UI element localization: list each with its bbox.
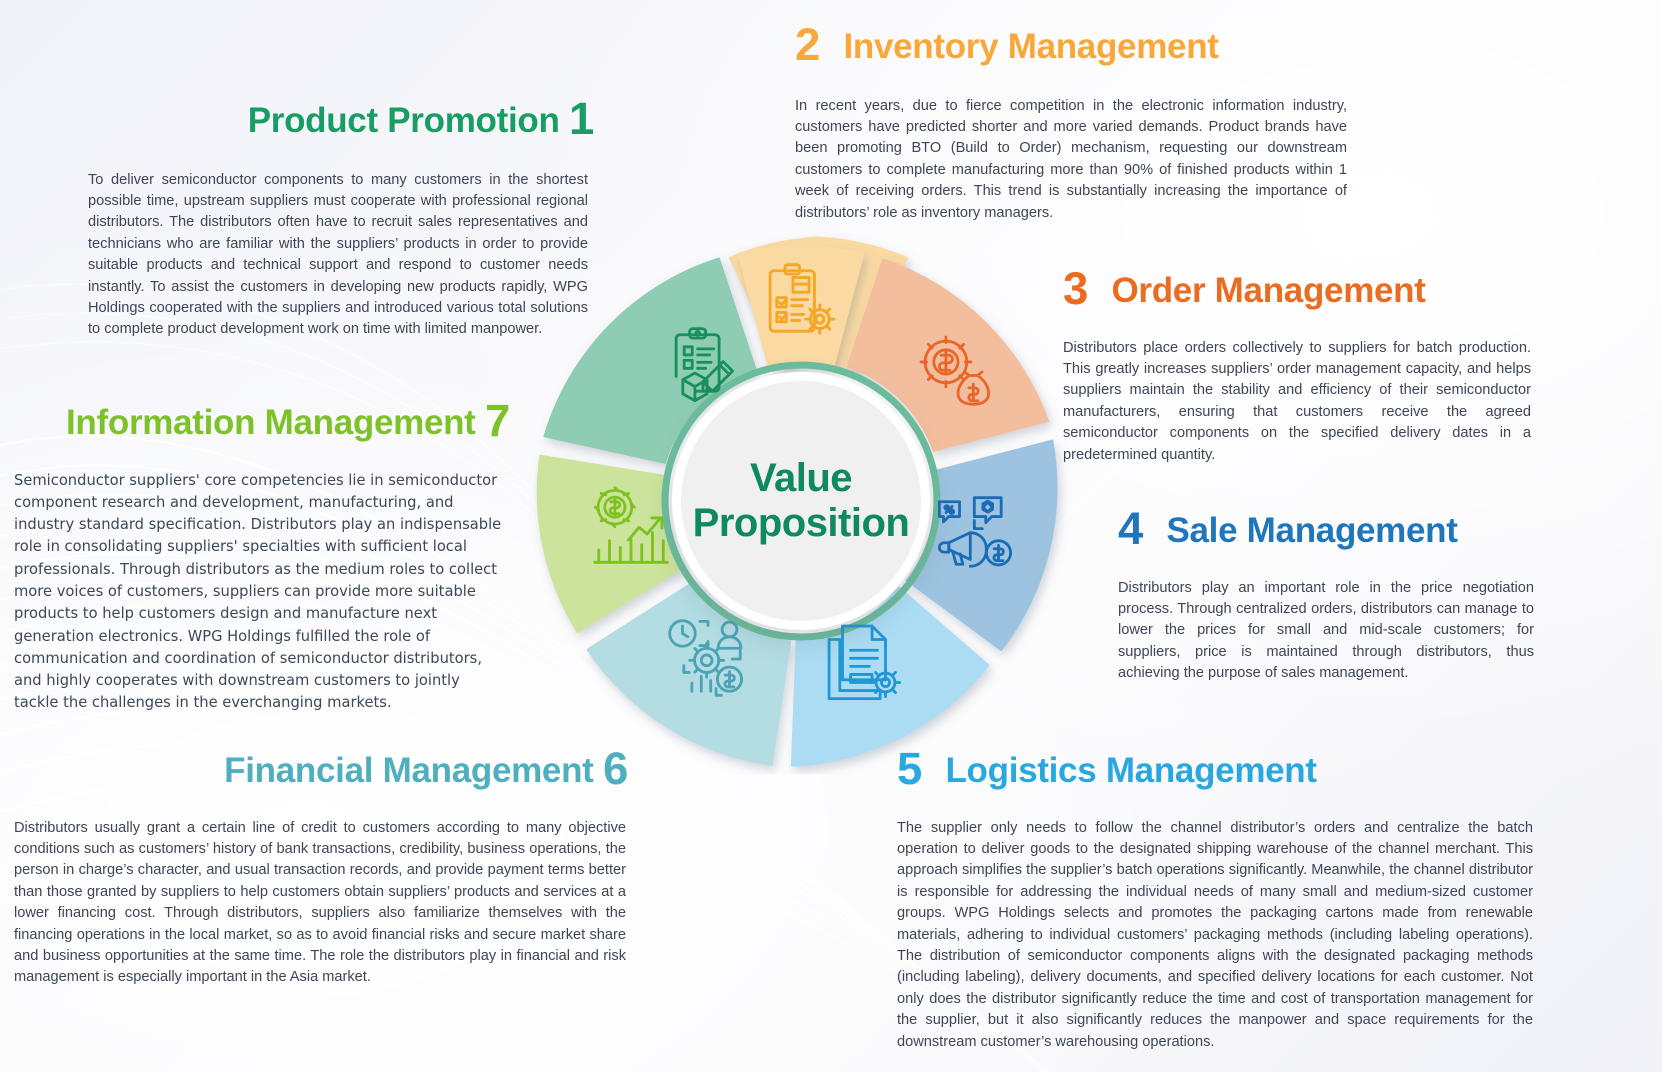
icon-information-management xyxy=(588,483,674,569)
section-1-body: To deliver semiconductor components to m… xyxy=(88,170,588,341)
section-2-title: Inventory Management xyxy=(843,27,1218,66)
section-sale-management: 4 Sale Management Distributors play an i… xyxy=(1118,506,1538,685)
center-line-1: Value xyxy=(693,456,910,501)
section-financial-management: Financial Management 6 Distributors usua… xyxy=(14,746,632,989)
section-4-title: Sale Management xyxy=(1166,511,1457,550)
section-6-body: Distributors usually grant a certain lin… xyxy=(14,818,626,989)
section-2-number: 2 xyxy=(795,19,820,70)
center-label: Value Proposition xyxy=(693,456,910,546)
section-4-body: Distributors play an important role in t… xyxy=(1118,578,1534,685)
section-4-heading: 4 Sale Management xyxy=(1118,506,1538,552)
section-1-number: 1 xyxy=(569,93,594,144)
center-line-2: Proposition xyxy=(693,501,910,546)
icon-logistics-management xyxy=(821,618,907,704)
section-1-title: Product Promotion xyxy=(248,101,560,140)
clock-gear-person-analytics-icon xyxy=(665,616,751,702)
section-product-promotion: Product Promotion 1 To deliver semicondu… xyxy=(88,96,598,341)
icon-order-management xyxy=(911,327,997,413)
section-3-heading: 3 Order Management xyxy=(1063,266,1533,312)
section-information-management: Information Management 7 Semiconductor s… xyxy=(14,398,514,715)
section-2-body: In recent years, due to fierce competiti… xyxy=(795,96,1347,224)
gear-dollar-growth-chart-icon xyxy=(588,483,674,569)
section-logistics-management: 5 Logistics Management The supplier only… xyxy=(897,746,1537,1053)
megaphone-discount-icon xyxy=(934,491,1020,577)
gear-money-bag-icon xyxy=(911,327,997,413)
section-7-heading: Information Management 7 xyxy=(14,398,514,444)
section-order-management: 3 Order Management Distributors place or… xyxy=(1063,266,1533,466)
section-1-heading: Product Promotion 1 xyxy=(88,96,598,142)
clipboard-checklist-gear-icon xyxy=(758,260,844,346)
icon-financial-management xyxy=(665,616,751,702)
icon-inventory-management xyxy=(758,260,844,346)
section-3-body: Distributors place orders collectively t… xyxy=(1063,338,1531,466)
section-2-heading: 2 Inventory Management xyxy=(795,22,1355,68)
value-proposition-wheel: Value Proposition xyxy=(528,228,1074,774)
section-inventory-management: 2 Inventory Management In recent years, … xyxy=(795,22,1355,224)
section-4-number: 4 xyxy=(1118,503,1143,554)
documents-gear-icon xyxy=(821,618,907,704)
section-3-title: Order Management xyxy=(1111,271,1425,310)
icon-sale-management xyxy=(934,491,1020,577)
section-5-body: The supplier only needs to follow the ch… xyxy=(897,818,1533,1053)
section-7-number: 7 xyxy=(485,395,510,446)
section-7-body: Semiconductor suppliers' core competenci… xyxy=(14,470,508,715)
center-disc: Value Proposition xyxy=(672,372,930,630)
section-7-title: Information Management xyxy=(66,403,476,442)
